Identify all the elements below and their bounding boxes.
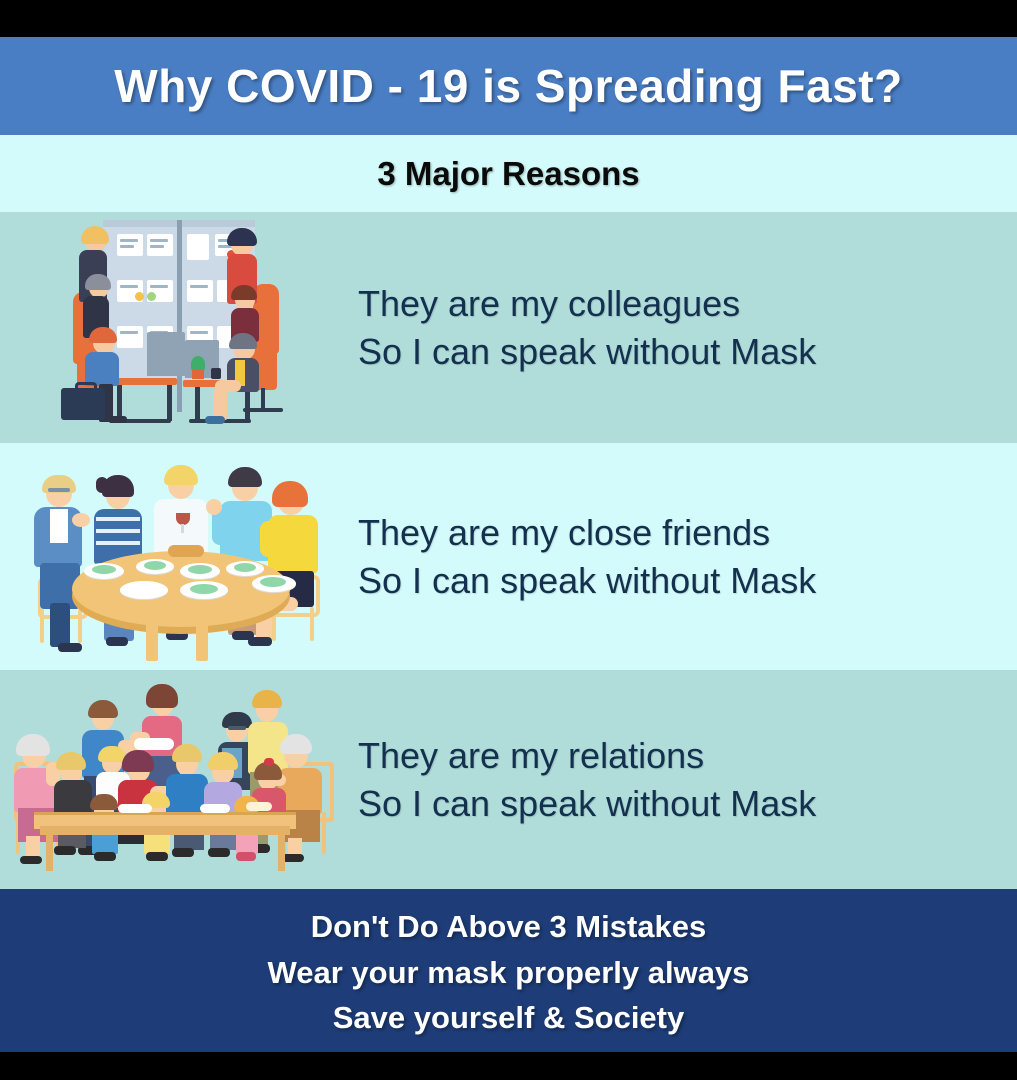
subtitle-band: 3 Major Reasons <box>0 135 1017 212</box>
office-colleagues-illustration <box>0 212 350 443</box>
page-title: Why COVID - 19 is Spreading Fast? <box>114 59 902 113</box>
footer-line-2: Wear your mask properly always <box>268 950 750 996</box>
footer-band: Don't Do Above 3 Mistakes Wear your mask… <box>0 889 1017 1052</box>
bottom-black-bar <box>0 1052 1017 1080</box>
reason-line-1: They are my close friends <box>358 509 1017 557</box>
subtitle: 3 Major Reasons <box>377 155 639 193</box>
family-gathering-illustration <box>0 670 350 889</box>
reason-text: They are my close friends So I can speak… <box>350 509 1017 604</box>
footer-line-1: Don't Do Above 3 Mistakes <box>311 904 707 950</box>
reason-line-2: So I can speak without Mask <box>358 780 1017 828</box>
reason-line-2: So I can speak without Mask <box>358 328 1017 376</box>
reason-row: They are my close friends So I can speak… <box>0 443 1017 670</box>
covid-awareness-poster: Why COVID - 19 is Spreading Fast? 3 Majo… <box>0 0 1017 1080</box>
reason-text: They are my colleagues So I can speak wi… <box>350 280 1017 375</box>
footer-line-3: Save yourself & Society <box>333 995 685 1041</box>
title-band: Why COVID - 19 is Spreading Fast? <box>0 37 1017 135</box>
reason-line-1: They are my relations <box>358 732 1017 780</box>
reason-line-1: They are my colleagues <box>358 280 1017 328</box>
friends-dining-illustration <box>0 443 350 670</box>
reason-row: They are my colleagues So I can speak wi… <box>0 212 1017 443</box>
reason-line-2: So I can speak without Mask <box>358 557 1017 605</box>
reason-text: They are my relations So I can speak wit… <box>350 732 1017 827</box>
top-black-bar <box>0 0 1017 37</box>
reason-row: They are my relations So I can speak wit… <box>0 670 1017 889</box>
